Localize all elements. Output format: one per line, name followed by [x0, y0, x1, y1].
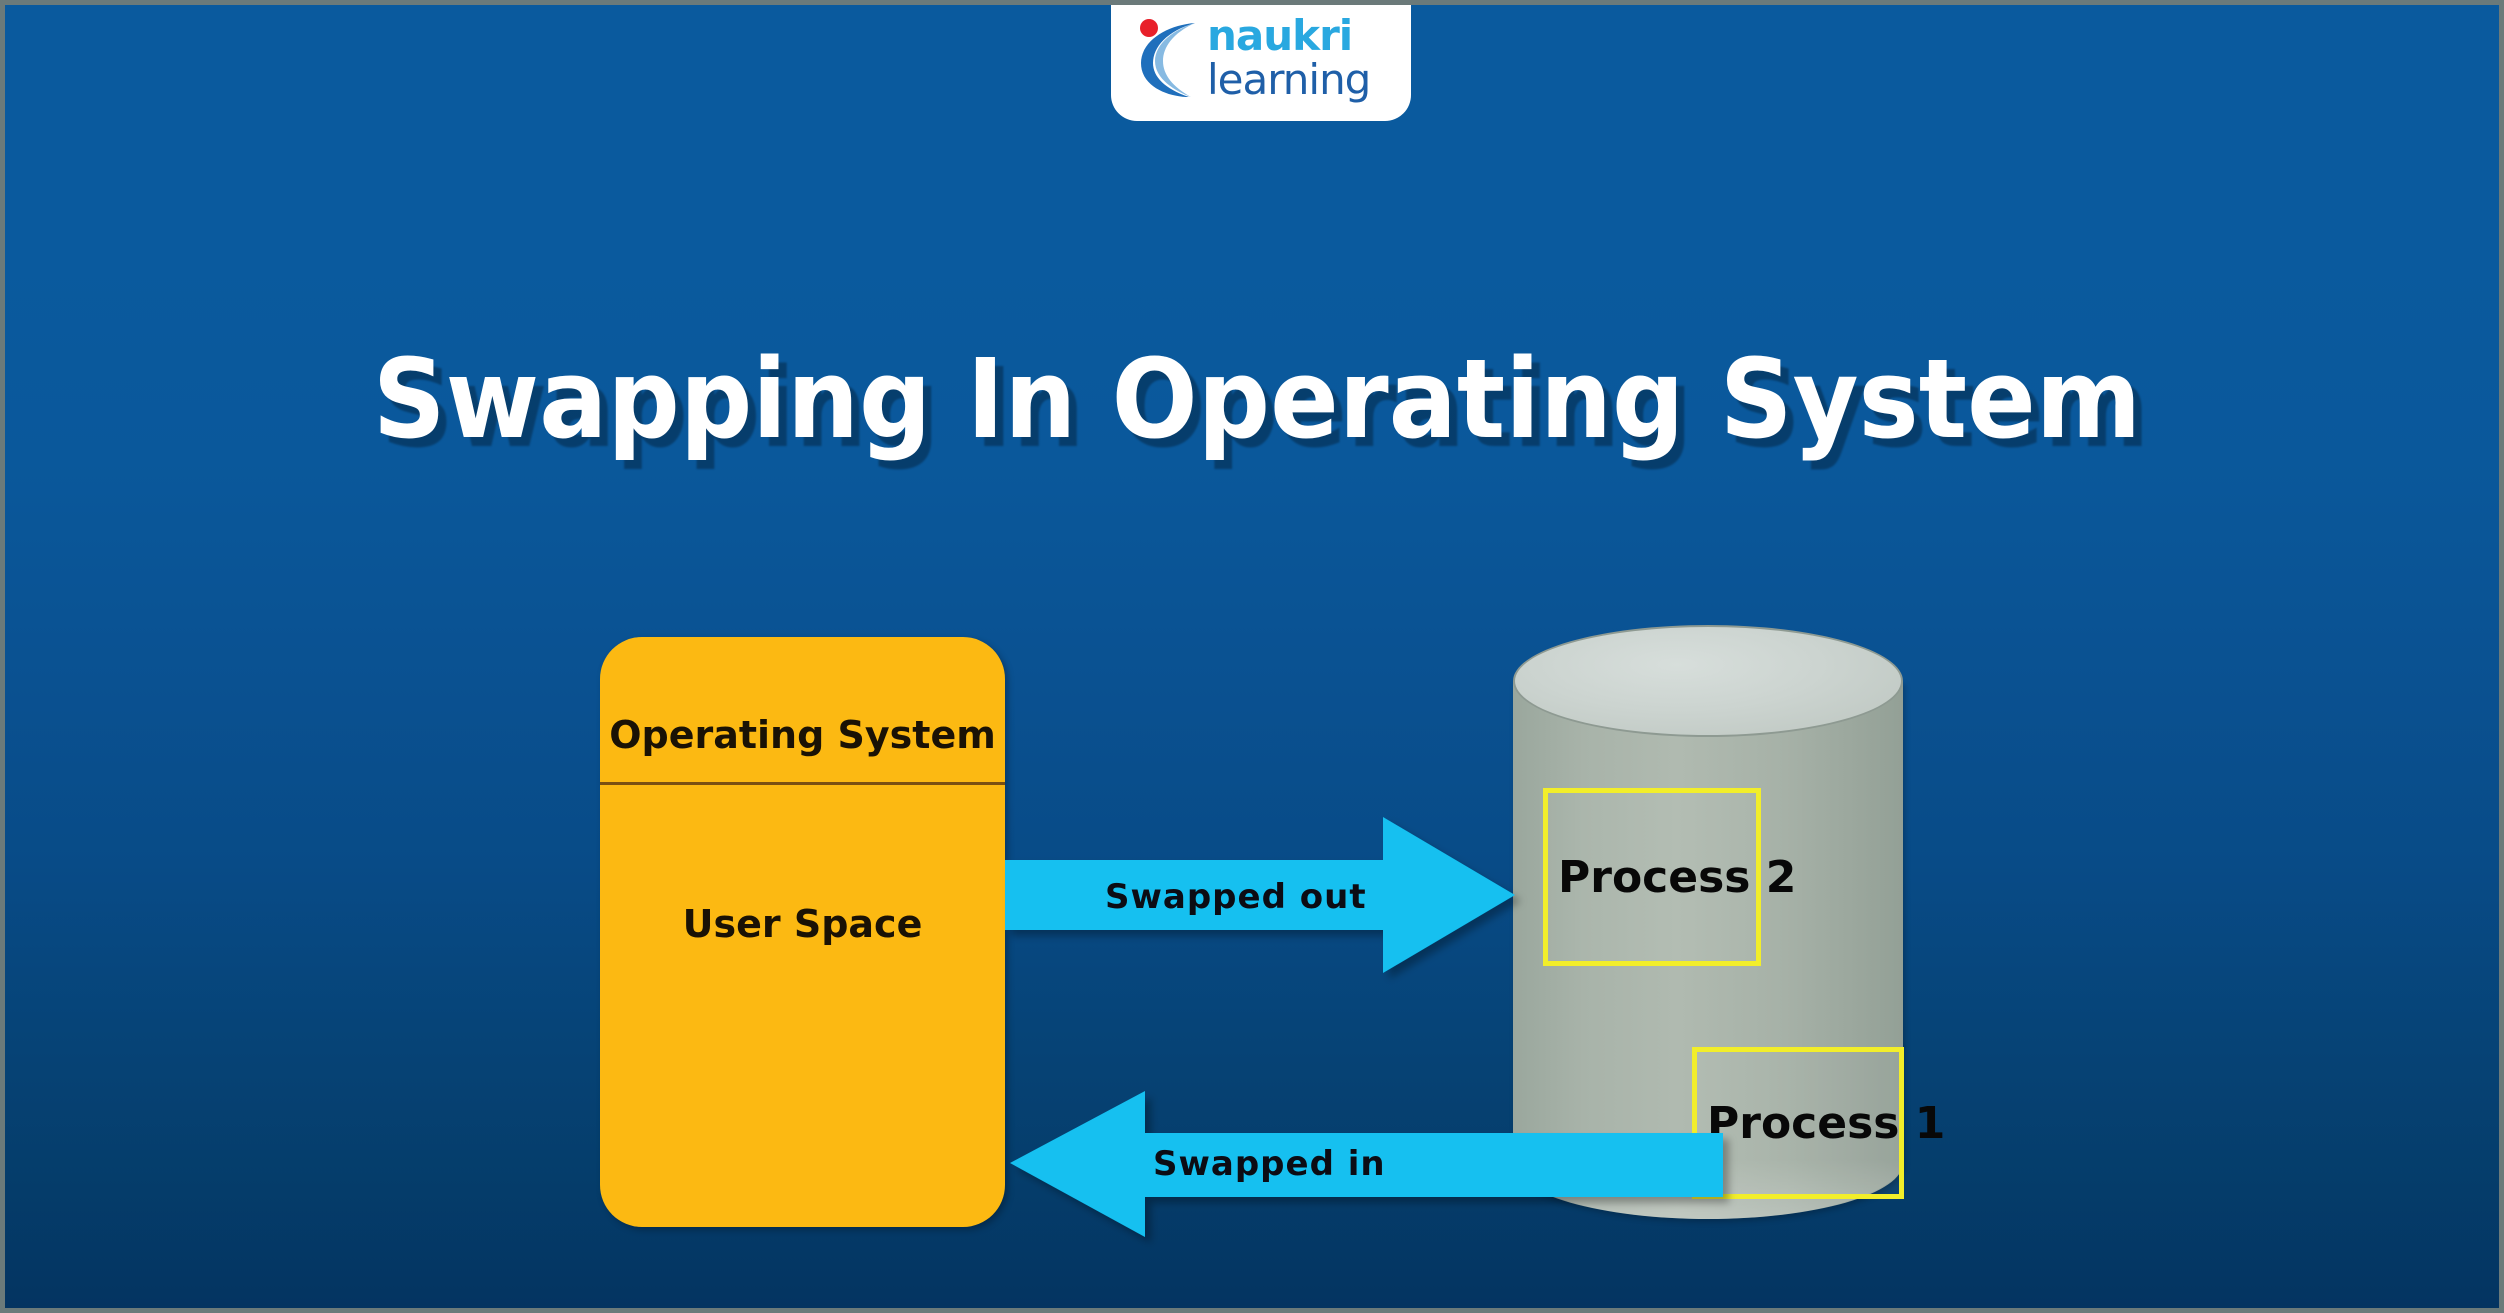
- brand-logo: naukri learning: [1111, 5, 1411, 109]
- brand-wordmark: naukri learning: [1207, 11, 1403, 103]
- swapping-diagram: Operating System User Space Process 2 Pr…: [5, 5, 2504, 1313]
- slide-canvas: naukri learning Swapping In Operating Sy…: [0, 0, 2504, 1313]
- swapped-in-label: Swapped in: [1153, 1144, 1386, 1184]
- red-dot-icon: [1140, 19, 1158, 37]
- cylinder-top-ellipse: [1513, 625, 1903, 737]
- naukri-swoosh-icon: [1133, 17, 1207, 99]
- brand-name-primary: naukri: [1207, 15, 1403, 57]
- memory-divider: [600, 782, 1005, 785]
- swapped-out-label: Swapped out: [1105, 877, 1367, 917]
- main-memory-block: Operating System User Space: [600, 637, 1005, 1227]
- brand-name-secondary: learning: [1207, 59, 1403, 101]
- process-1-label: Process 1: [1697, 1098, 1945, 1149]
- process-2-box: Process 2: [1543, 788, 1761, 966]
- brand-logo-tab[interactable]: naukri learning: [1111, 0, 1411, 121]
- process-2-label: Process 2: [1548, 852, 1796, 903]
- operating-system-label: Operating System: [600, 713, 1005, 757]
- user-space-label: User Space: [600, 902, 1005, 946]
